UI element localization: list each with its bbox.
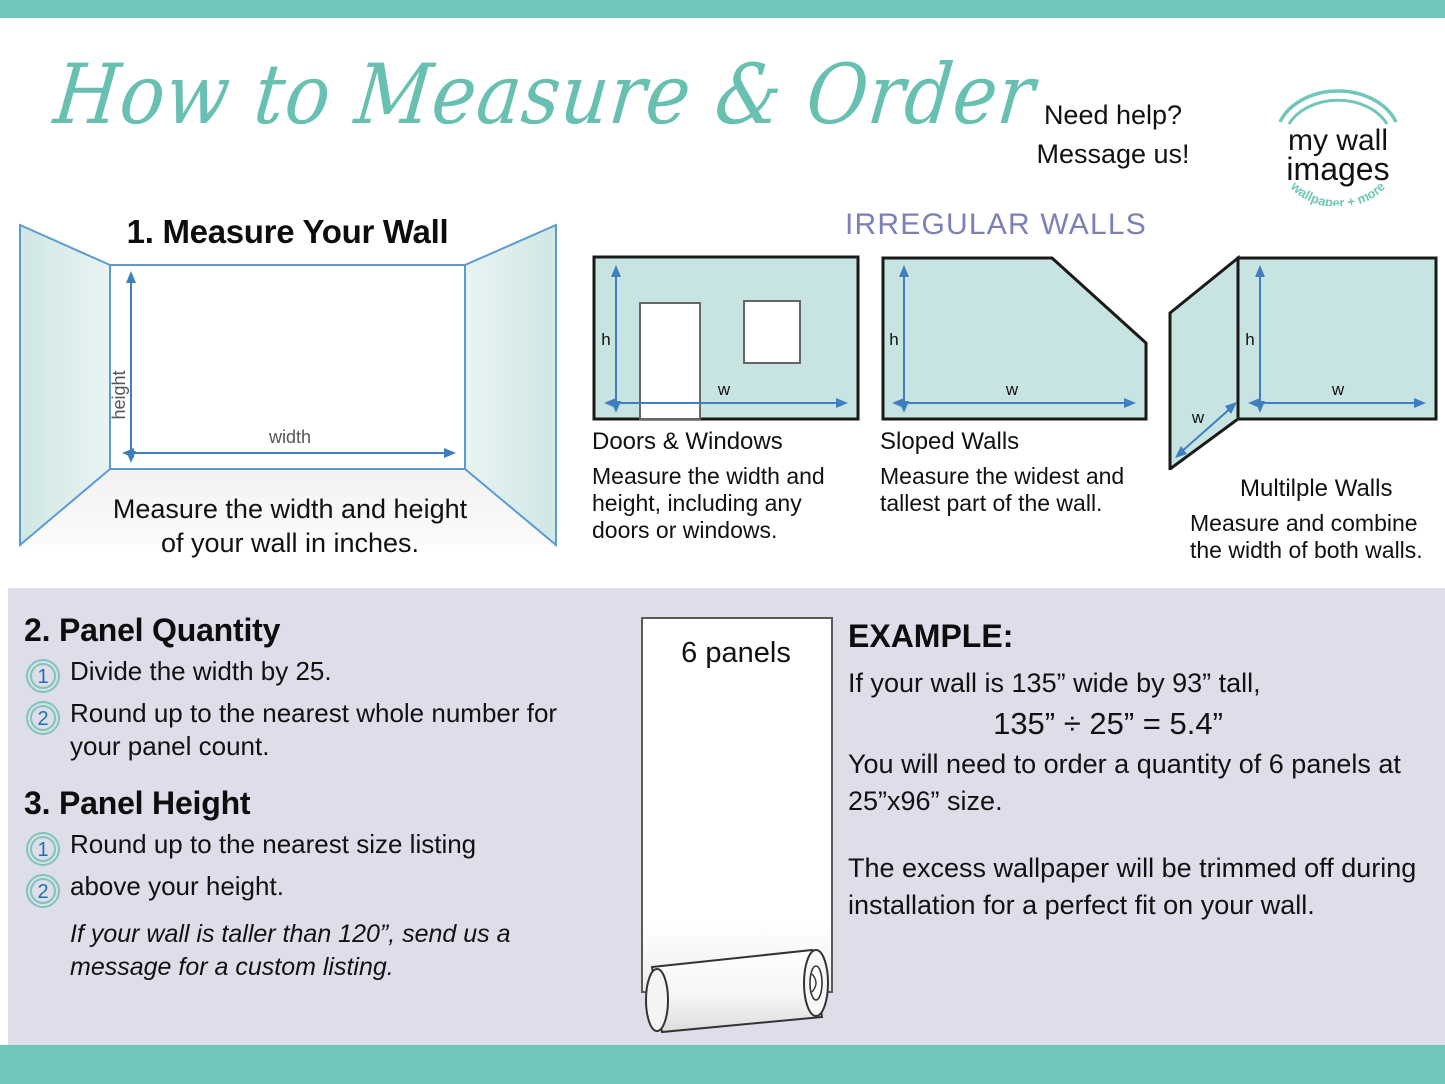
list-item: 2 Round up to the nearest whole number f…: [24, 697, 614, 763]
bullet-circle-icon: 2: [24, 699, 62, 737]
bullet-circle-icon: 1: [24, 657, 62, 695]
steps-column: 2. Panel Quantity 1 Divide the width by …: [24, 612, 614, 984]
section1-caption-line2: of your wall in inches.: [20, 526, 560, 560]
panel-height-heading: 3. Panel Height: [24, 785, 614, 822]
example-spacer: [848, 820, 1428, 850]
card-desc-multiple-walls: Measure and combine the width of both wa…: [1190, 510, 1443, 564]
panel-quantity-heading: 2. Panel Quantity: [24, 612, 614, 649]
card-desc-sloped-walls: Measure the widest and tallest part of t…: [880, 463, 1148, 517]
bottom-accent-bar: [0, 1045, 1445, 1084]
svg-text:1: 1: [37, 839, 48, 861]
panel-height-bullets: 1 Round up to the nearest size listing 2…: [24, 828, 614, 984]
brand-logo: my wall images wallpaper + more: [1258, 66, 1418, 206]
need-help-line2: Message us!: [1018, 135, 1208, 174]
infographic-page: How to Measure & Order Need help? Messag…: [0, 0, 1445, 1084]
svg-text:width: width: [268, 427, 311, 447]
card-multiple-walls: h w w Multilple Walls Measure and combin…: [1168, 255, 1443, 564]
example-equation: 135” ÷ 25” = 5.4”: [848, 702, 1428, 746]
list-item: 2 above your height.: [24, 870, 614, 910]
card-title-multiple-walls: Multilple Walls: [1240, 474, 1443, 504]
wallpaper-roll-illustration: 6 panels: [636, 612, 851, 1037]
svg-text:height: height: [109, 370, 129, 419]
bullet-circle-icon: 1: [24, 830, 62, 868]
need-help-line1: Need help?: [1018, 96, 1208, 135]
card-title-sloped-walls: Sloped Walls: [880, 427, 1148, 457]
svg-text:h: h: [889, 330, 898, 349]
svg-text:w: w: [717, 380, 731, 399]
measure-your-wall-section: height width 1. Measure Your Wall Measur…: [0, 205, 575, 575]
svg-text:w: w: [1331, 380, 1345, 399]
roll-panel-count-label: 6 panels: [636, 637, 836, 670]
panel-height-note: If your wall is taller than 120”, send u…: [70, 918, 614, 984]
example-line1: If your wall is 135” wide by 93” tall,: [848, 665, 1428, 702]
svg-text:h: h: [1245, 330, 1254, 349]
bullet-text: above your height.: [70, 870, 614, 903]
page-title: How to Measure & Order: [50, 47, 1040, 143]
svg-text:w: w: [1005, 380, 1019, 399]
svg-text:2: 2: [37, 881, 48, 903]
svg-text:h: h: [601, 330, 610, 349]
card-doors-and-windows: h w Doors & Windows Measure the width an…: [592, 255, 860, 544]
doors-windows-diagram: h w: [592, 255, 860, 423]
card-title-doors-windows: Doors & Windows: [592, 427, 860, 457]
list-item: 1 Round up to the nearest size listing: [24, 828, 614, 868]
svg-text:1: 1: [37, 666, 48, 688]
example-line3: The excess wallpaper will be trimmed off…: [848, 850, 1428, 924]
bullet-text: Round up to the nearest size listing: [70, 828, 614, 861]
example-heading: EXAMPLE:: [848, 618, 1428, 655]
bullet-circle-icon: 2: [24, 872, 62, 910]
top-accent-bar: [0, 0, 1445, 18]
need-help-block: Need help? Message us!: [1018, 96, 1208, 174]
header: How to Measure & Order Need help? Messag…: [0, 18, 1445, 190]
sloped-wall-diagram: h w: [880, 255, 1148, 423]
section1-caption: Measure the width and height of your wal…: [20, 492, 560, 560]
example-line2: You will need to order a quantity of 6 p…: [848, 746, 1428, 820]
section1-title: 1. Measure Your Wall: [0, 213, 575, 251]
panel-quantity-bullets: 1 Divide the width by 25. 2 Round up to …: [24, 655, 614, 763]
svg-text:images: images: [1286, 151, 1389, 187]
bullet-text: Round up to the nearest whole number for…: [70, 697, 614, 763]
example-column: EXAMPLE: If your wall is 135” wide by 93…: [848, 618, 1428, 924]
section1-caption-line1: Measure the width and height: [20, 492, 560, 526]
card-desc-doors-windows: Measure the width and height, including …: [592, 463, 860, 544]
irregular-walls-heading: IRREGULAR WALLS: [845, 208, 1147, 242]
list-item: 1 Divide the width by 25.: [24, 655, 614, 695]
multiple-walls-diagram: h w w: [1168, 255, 1443, 470]
svg-text:w: w: [1191, 408, 1205, 427]
card-sloped-walls: h w Sloped Walls Measure the widest and …: [880, 255, 1148, 517]
bullet-text: Divide the width by 25.: [70, 655, 614, 688]
svg-text:2: 2: [37, 708, 48, 730]
